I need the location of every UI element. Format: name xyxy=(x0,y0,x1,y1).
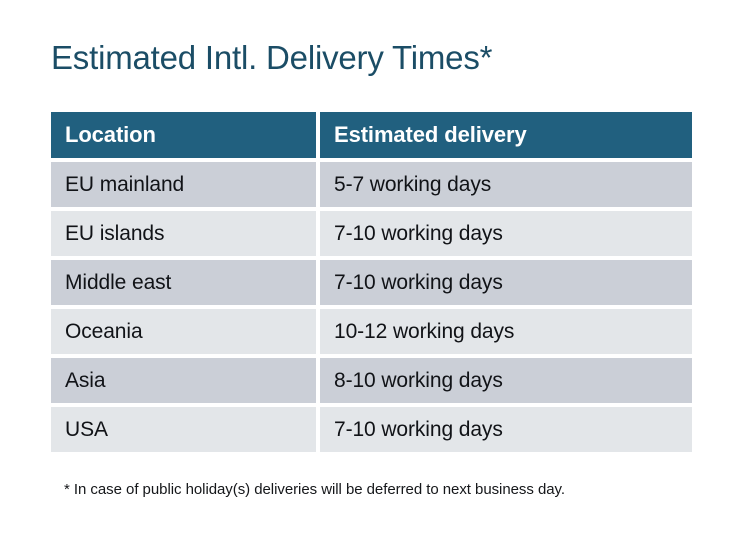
table-row: EU mainland 5-7 working days xyxy=(51,162,692,207)
table-row: Asia 8-10 working days xyxy=(51,358,692,403)
footnote-text: * In case of public holiday(s) deliverie… xyxy=(64,480,565,500)
page-title: Estimated Intl. Delivery Times* xyxy=(51,38,492,78)
table-row: EU islands 7-10 working days xyxy=(51,211,692,256)
delivery-times-page: Estimated Intl. Delivery Times* Location… xyxy=(0,0,745,536)
cell-location: Asia xyxy=(51,358,316,403)
table-row: Oceania 10-12 working days xyxy=(51,309,692,354)
column-header-location: Location xyxy=(51,112,316,158)
cell-estimated-delivery: 7-10 working days xyxy=(320,260,692,305)
cell-estimated-delivery: 10-12 working days xyxy=(320,309,692,354)
cell-estimated-delivery: 5-7 working days xyxy=(320,162,692,207)
estimated-delivery-table: Location Estimated delivery EU mainland … xyxy=(51,112,692,452)
table-row: Middle east 7-10 working days xyxy=(51,260,692,305)
cell-location: Middle east xyxy=(51,260,316,305)
cell-location: Oceania xyxy=(51,309,316,354)
cell-estimated-delivery: 8-10 working days xyxy=(320,358,692,403)
table-row: USA 7-10 working days xyxy=(51,407,692,452)
column-header-estimated-delivery: Estimated delivery xyxy=(320,112,692,158)
cell-estimated-delivery: 7-10 working days xyxy=(320,407,692,452)
cell-location: EU mainland xyxy=(51,162,316,207)
cell-estimated-delivery: 7-10 working days xyxy=(320,211,692,256)
table-header-row: Location Estimated delivery xyxy=(51,112,692,158)
cell-location: EU islands xyxy=(51,211,316,256)
cell-location: USA xyxy=(51,407,316,452)
